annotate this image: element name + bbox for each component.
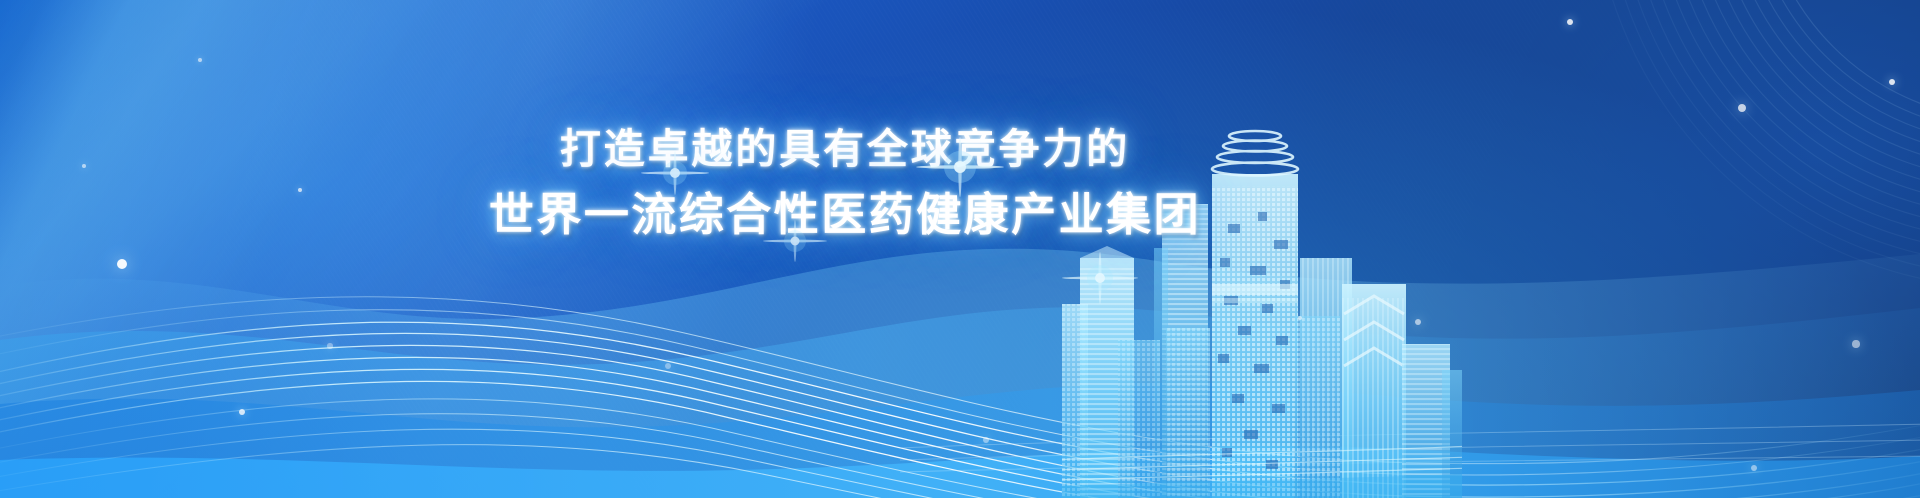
hero-banner: 打造卓越的具有全球竞争力的 世界一流综合性医药健康产业集团 xyxy=(0,0,1920,498)
light-particle-dot xyxy=(198,58,202,62)
headline-line-2: 世界一流综合性医药健康产业集团 xyxy=(0,180,1690,250)
headline-line-1: 打造卓越的具有全球竞争力的 xyxy=(0,118,1690,180)
light-streak-lines-layer xyxy=(0,208,1920,498)
headline-block: 打造卓越的具有全球竞争力的 世界一流综合性医药健康产业集团 xyxy=(0,118,1920,250)
